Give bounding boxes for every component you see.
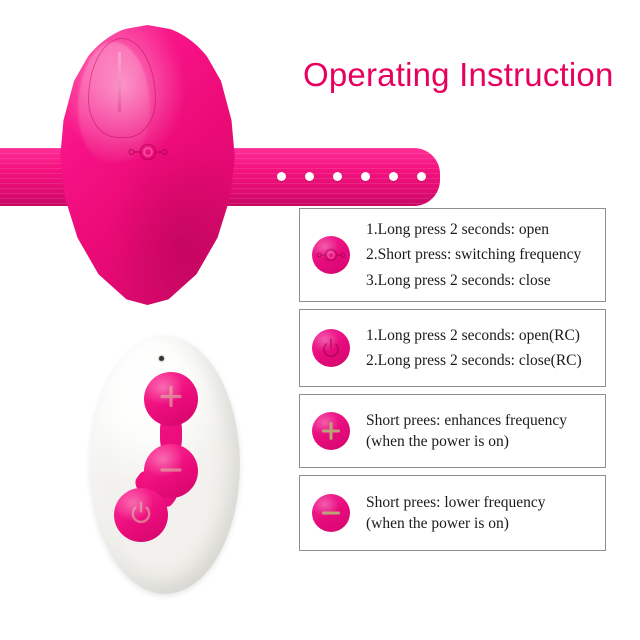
strap-hole xyxy=(389,172,398,181)
page-title: Operating Instruction xyxy=(303,56,614,94)
product-body-ridge xyxy=(118,52,121,112)
instruction-line: (when the power is on) xyxy=(366,431,599,452)
minus-icon xyxy=(158,462,184,480)
plus-button[interactable] xyxy=(144,372,198,426)
indicator-led xyxy=(159,356,164,361)
instruction-line: 2.Short press: switching frequency xyxy=(366,242,599,267)
remote-control xyxy=(90,336,240,594)
power-icon xyxy=(312,329,350,367)
strap-hole xyxy=(305,172,314,181)
plus-icon xyxy=(158,384,184,415)
instruction-text: Short prees: lower frequency (when the p… xyxy=(366,492,599,535)
minus-icon xyxy=(312,494,350,532)
strap-hole xyxy=(361,172,370,181)
product-photo xyxy=(0,0,300,330)
instruction-line: Short prees: enhances frequency xyxy=(366,410,599,431)
power-icon xyxy=(128,500,154,531)
vibration-wave-icon xyxy=(312,236,350,274)
instruction-line: (when the power is on) xyxy=(366,513,599,534)
instruction-row: 1.Long press 2 seconds: open 2.Short pre… xyxy=(299,208,606,302)
strap-hole xyxy=(333,172,342,181)
instruction-row: Short prees: lower frequency (when the p… xyxy=(299,475,606,551)
instruction-text: Short prees: enhances frequency (when th… xyxy=(366,410,599,453)
plus-icon xyxy=(312,412,350,450)
instruction-line: Short prees: lower frequency xyxy=(366,492,599,513)
power-button[interactable] xyxy=(114,488,168,542)
instruction-text: 1.Long press 2 seconds: open(RC) 2.Long … xyxy=(366,323,599,373)
instruction-row: 1.Long press 2 seconds: open(RC) 2.Long … xyxy=(299,309,606,387)
instruction-list: 1.Long press 2 seconds: open 2.Short pre… xyxy=(299,208,606,558)
instruction-text: 1.Long press 2 seconds: open 2.Short pre… xyxy=(366,217,599,292)
strap-hole xyxy=(417,172,426,181)
instruction-row: Short prees: enhances frequency (when th… xyxy=(299,394,606,468)
vibration-wave-icon xyxy=(127,139,169,165)
instruction-line: 1.Long press 2 seconds: open(RC) xyxy=(366,323,599,348)
instruction-line: 3.Long press 2 seconds: close xyxy=(366,268,599,293)
strap-hole xyxy=(277,172,286,181)
remote-keypad xyxy=(114,372,206,542)
instruction-line: 1.Long press 2 seconds: open xyxy=(366,217,599,242)
instruction-line: 2.Long press 2 seconds: close(RC) xyxy=(366,348,599,373)
